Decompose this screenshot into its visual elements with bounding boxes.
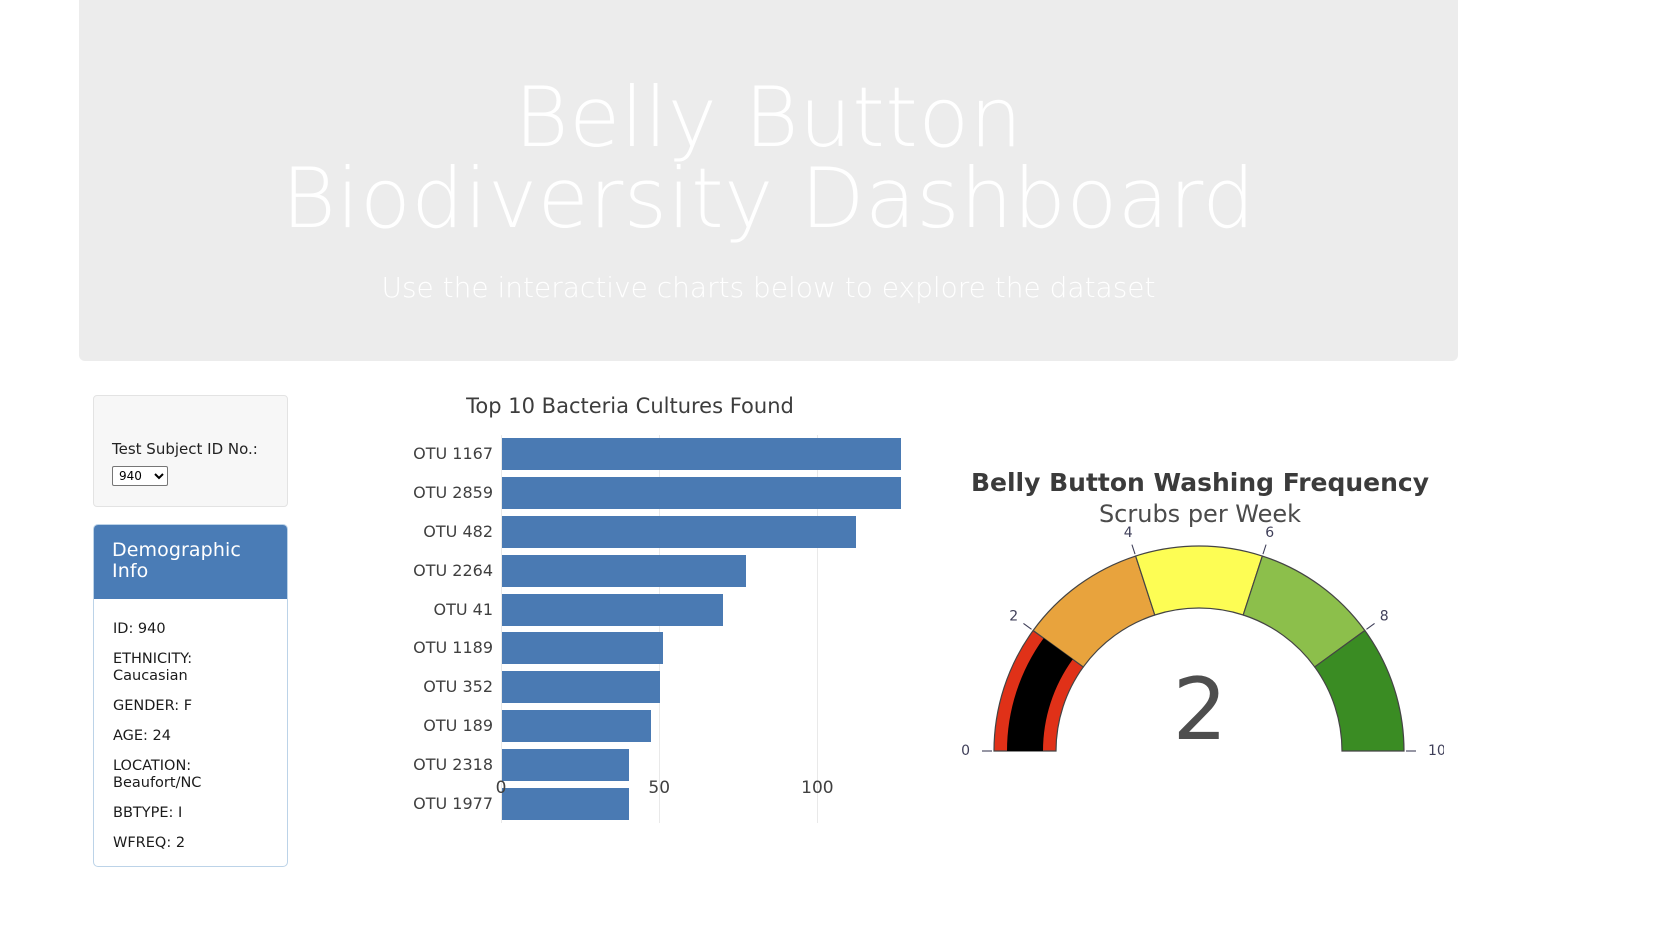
gauge-tick-label: 2 — [1009, 608, 1018, 624]
gauge-band — [1136, 546, 1263, 615]
bar-fill — [502, 516, 856, 548]
bar-fill — [502, 710, 651, 742]
bar-category-label: OTU 2859 — [413, 477, 502, 509]
demographic-card-title: Demographic Info — [94, 525, 287, 599]
bar-fill — [502, 555, 746, 587]
demographic-field-wfreq: WFREQ: 2 — [113, 835, 271, 852]
gauge-tick-label: 6 — [1265, 526, 1274, 541]
bar-fill — [502, 594, 723, 626]
bar-row[interactable]: OTU 482 — [502, 516, 856, 548]
gauge-tick — [1263, 545, 1266, 555]
demographic-field-id: ID: 940 — [113, 621, 271, 638]
gauge-subtitle: Scrubs per Week — [940, 500, 1460, 528]
bar-row[interactable]: OTU 1977 — [502, 788, 629, 820]
gauge-tick — [1132, 545, 1135, 555]
bar-chart-title: Top 10 Bacteria Cultures Found — [330, 394, 930, 418]
gauge-value-readout: 2 — [940, 660, 1460, 760]
gauge-tick — [1023, 623, 1031, 629]
demographic-field-location: LOCATION: Beaufort/NC — [113, 758, 271, 792]
bar-row[interactable]: OTU 41 — [502, 594, 723, 626]
bar-row[interactable]: OTU 2264 — [502, 555, 746, 587]
bar-row[interactable]: OTU 1189 — [502, 632, 663, 664]
bar-category-label: OTU 189 — [423, 710, 502, 742]
bar-fill — [502, 749, 629, 781]
washing-frequency-gauge[interactable]: Belly Button Washing Frequency Scrubs pe… — [940, 380, 1460, 810]
bar-row[interactable]: OTU 2859 — [502, 477, 901, 509]
subject-id-select[interactable]: 940 — [112, 466, 168, 486]
page-title: Belly Button Biodiversity Dashboard — [269, 77, 1269, 240]
bar-category-label: OTU 482 — [423, 516, 502, 548]
subject-selector-label: Test Subject ID No.: — [112, 440, 269, 458]
dashboard-page: Belly Button Biodiversity Dashboard Use … — [0, 0, 1660, 927]
bar-category-label: OTU 1189 — [413, 632, 502, 664]
demographic-field-age: AGE: 24 — [113, 728, 271, 745]
bar-fill — [502, 671, 660, 703]
demographic-info-card: Demographic Info ID: 940ETHNICITY: Cauca… — [93, 524, 288, 867]
bar-category-label: OTU 2264 — [413, 555, 502, 587]
bar-fill — [502, 788, 629, 820]
bar-category-label: OTU 41 — [433, 594, 502, 626]
bar-row[interactable]: OTU 189 — [502, 710, 651, 742]
gauge-tick — [1366, 623, 1374, 629]
demographic-field-gender: GENDER: F — [113, 698, 271, 715]
bar-category-label: OTU 1167 — [413, 438, 502, 470]
bar-row[interactable]: OTU 1167 — [502, 438, 901, 470]
x-tick-label: 100 — [801, 778, 833, 798]
bar-category-label: OTU 352 — [423, 671, 502, 703]
demographic-field-bbtype: BBTYPE: I — [113, 805, 271, 822]
demographic-field-list: ID: 940ETHNICITY: CaucasianGENDER: FAGE:… — [94, 599, 287, 867]
x-tick-label: 0 — [496, 778, 507, 798]
gauge-tick-label: 8 — [1380, 608, 1389, 624]
x-tick-label: 50 — [648, 778, 670, 798]
subject-selector-card: Test Subject ID No.: 940 — [93, 395, 288, 507]
gauge-tick-label: 4 — [1124, 526, 1133, 541]
bar-fill — [502, 632, 663, 664]
bar-category-label: OTU 1977 — [413, 788, 502, 820]
bar-row[interactable]: OTU 352 — [502, 671, 660, 703]
page-header-jumbotron: Belly Button Biodiversity Dashboard Use … — [79, 0, 1458, 361]
bar-fill — [502, 477, 901, 509]
bar-row[interactable]: OTU 2318 — [502, 749, 629, 781]
bacteria-bar-chart[interactable]: Top 10 Bacteria Cultures Found OTU 1167O… — [330, 386, 930, 866]
bar-chart-plot-area: OTU 1167OTU 2859OTU 482OTU 2264OTU 41OTU… — [501, 435, 925, 823]
page-subtitle: Use the interactive charts below to expl… — [381, 271, 1155, 304]
gauge-title: Belly Button Washing Frequency — [940, 468, 1460, 497]
demographic-field-ethnicity: ETHNICITY: Caucasian — [113, 651, 271, 685]
bar-fill — [502, 438, 901, 470]
bar-category-label: OTU 2318 — [413, 749, 502, 781]
